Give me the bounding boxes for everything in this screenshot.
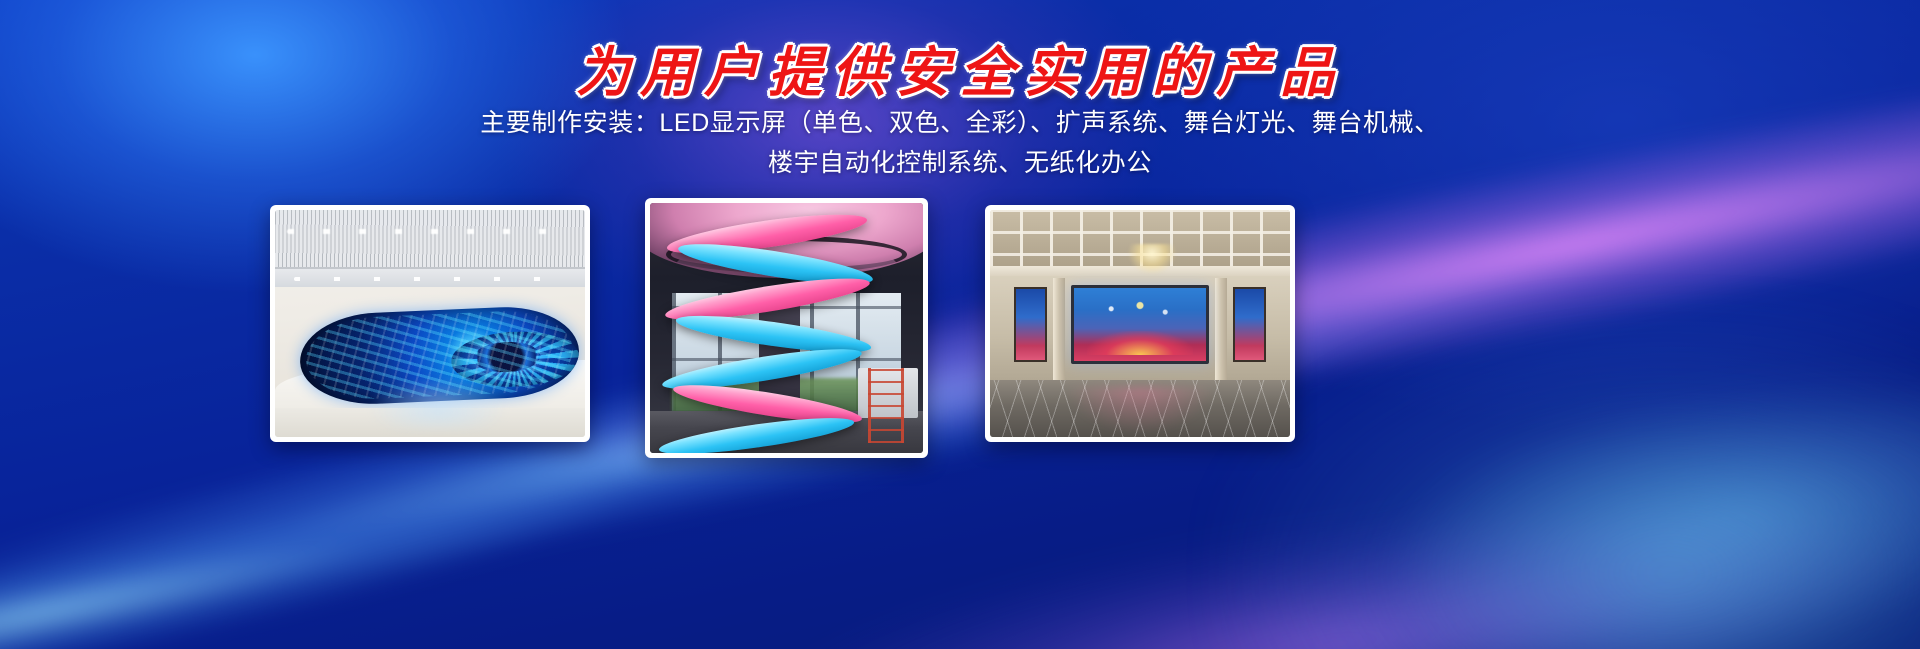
spiral-led-band — [650, 203, 923, 453]
pillar-left — [1053, 278, 1065, 380]
subtitle-line-1: 主要制作安装：LED显示屏（单色、双色、全彩）、扩声系统、舞台灯光、舞台机械、 — [0, 103, 1920, 143]
side-led-panel-left — [1014, 287, 1047, 362]
photo-spiral-led-display[interactable] — [645, 198, 928, 458]
ceiling-band — [275, 269, 585, 287]
subtitle-block: 主要制作安装：LED显示屏（单色、双色、全彩）、扩声系统、舞台灯光、舞台机械、 … — [0, 103, 1920, 183]
photo-eye-shaped-led-display[interactable] — [270, 205, 590, 442]
floor-sheen — [368, 378, 508, 428]
subtitle-line-2: 楼宇自动化控制系统、无纸化办公 — [0, 143, 1920, 183]
main-led-screen — [1071, 285, 1209, 364]
pillar-right — [1215, 278, 1227, 380]
chandelier — [1128, 244, 1176, 274]
page-title: 为用户提供安全实用的产品 — [0, 28, 1920, 107]
floor-reflection — [1068, 387, 1212, 432]
photo-conference-hall-led-display[interactable] — [985, 205, 1295, 442]
photo-1-image — [275, 210, 585, 437]
photo-3-image — [990, 210, 1290, 437]
led-company-banner: 为用户提供安全实用的产品 主要制作安装：LED显示屏（单色、双色、全彩）、扩声系… — [0, 0, 1920, 649]
side-led-panel-right — [1233, 287, 1266, 362]
corner-glow — [1220, 309, 1920, 649]
ceiling-louver — [275, 210, 585, 269]
photo-2-image — [650, 203, 923, 453]
